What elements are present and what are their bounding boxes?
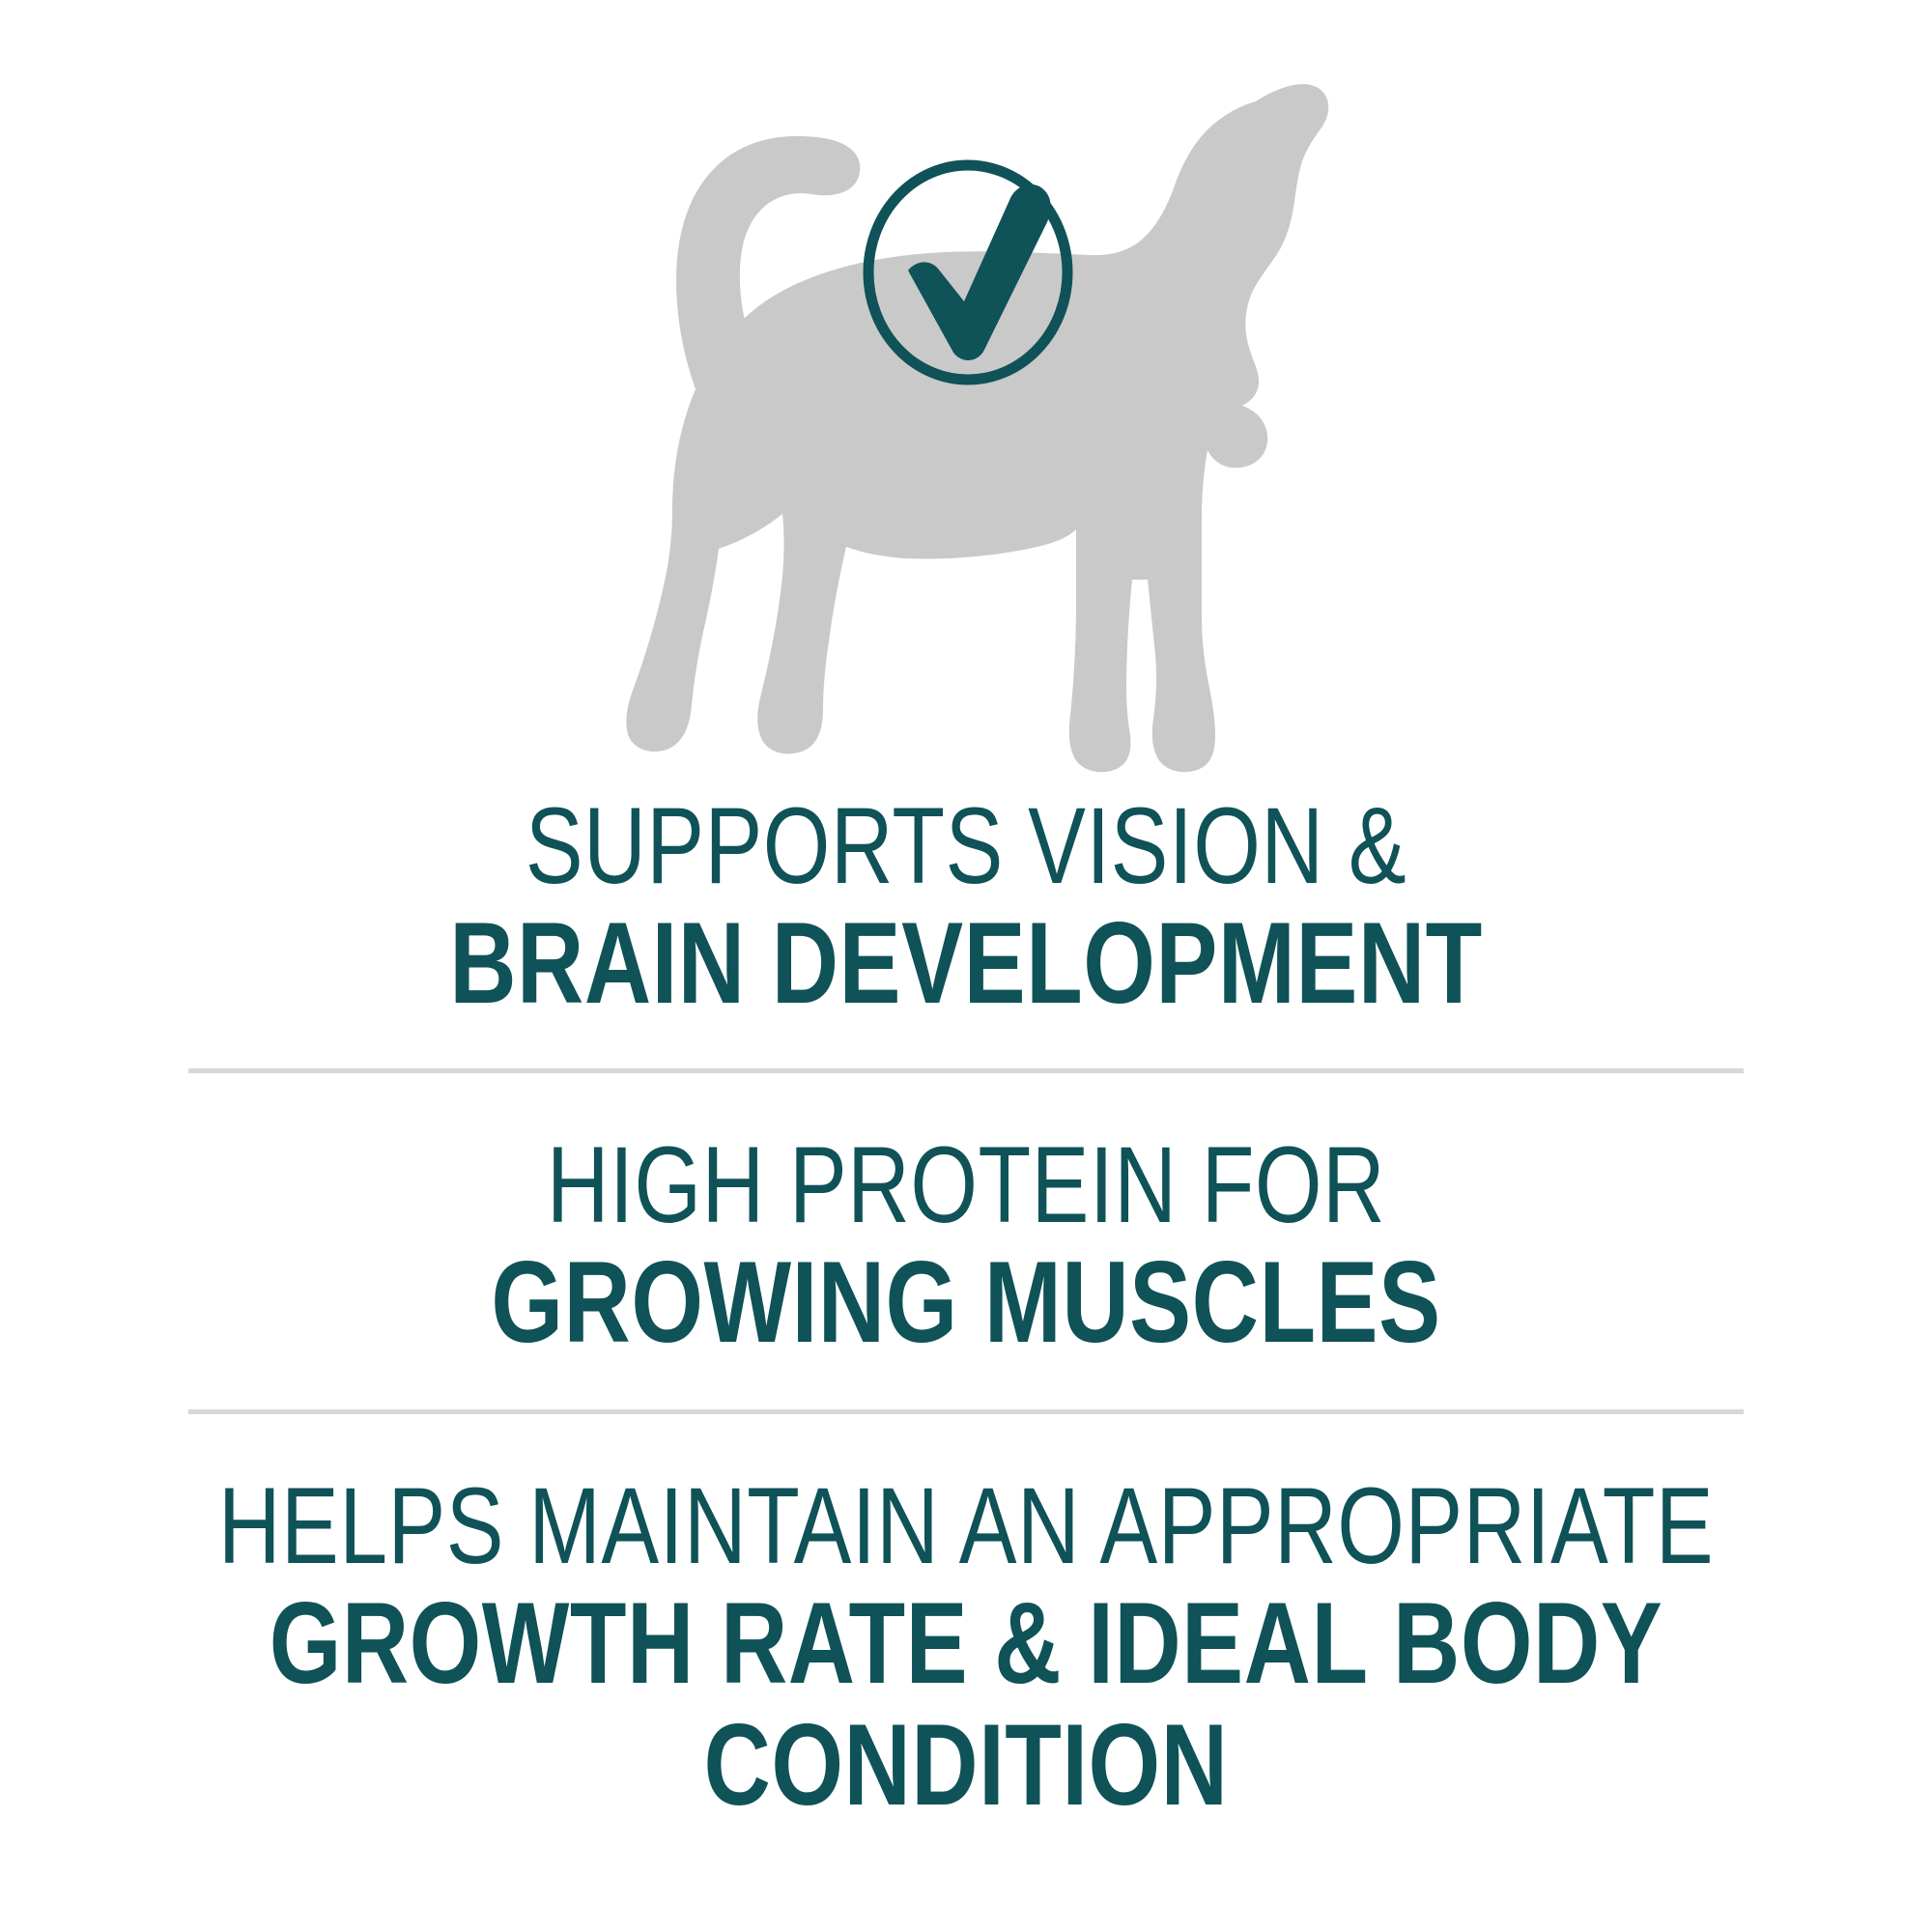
spacer-above-divider-2 xyxy=(0,1363,1932,1409)
puppy-silhouette-with-checkmark-svg xyxy=(0,0,1932,773)
benefit-protein-line-light: HIGH PROTEIN FOR xyxy=(193,1129,1739,1241)
benefit-vision-line-bold: BRAIN DEVELOPMENT xyxy=(193,902,1739,1024)
benefit-vision-line-light: SUPPORTS VISION & xyxy=(193,790,1739,902)
benefit-growth-line-bold-2: CONDITION xyxy=(193,1704,1739,1826)
benefit-protein-line-bold: GROWING MUSCLES xyxy=(193,1241,1739,1363)
hero-illustration xyxy=(0,0,1932,773)
benefit-growth-line-bold: GROWTH RATE & IDEAL BODY xyxy=(193,1582,1739,1704)
spacer-below-divider-2 xyxy=(0,1414,1932,1470)
benefit-item-growth: HELPS MAINTAIN AN APPROPRIATE GROWTH RAT… xyxy=(0,1470,1932,1826)
puppy-benefits-infographic: SUPPORTS VISION & BRAIN DEVELOPMENT HIGH… xyxy=(0,0,1932,1932)
benefit-item-protein: HIGH PROTEIN FOR GROWING MUSCLES xyxy=(0,1129,1932,1363)
benefits-list: SUPPORTS VISION & BRAIN DEVELOPMENT HIGH… xyxy=(0,773,1932,1932)
spacer-below-divider-1 xyxy=(0,1073,1932,1129)
dog-silhouette xyxy=(626,84,1328,772)
benefit-growth-line-light: HELPS MAINTAIN AN APPROPRIATE xyxy=(193,1470,1739,1582)
benefit-item-vision: SUPPORTS VISION & BRAIN DEVELOPMENT xyxy=(0,790,1932,1024)
spacer-above-divider-1 xyxy=(0,1024,1932,1068)
